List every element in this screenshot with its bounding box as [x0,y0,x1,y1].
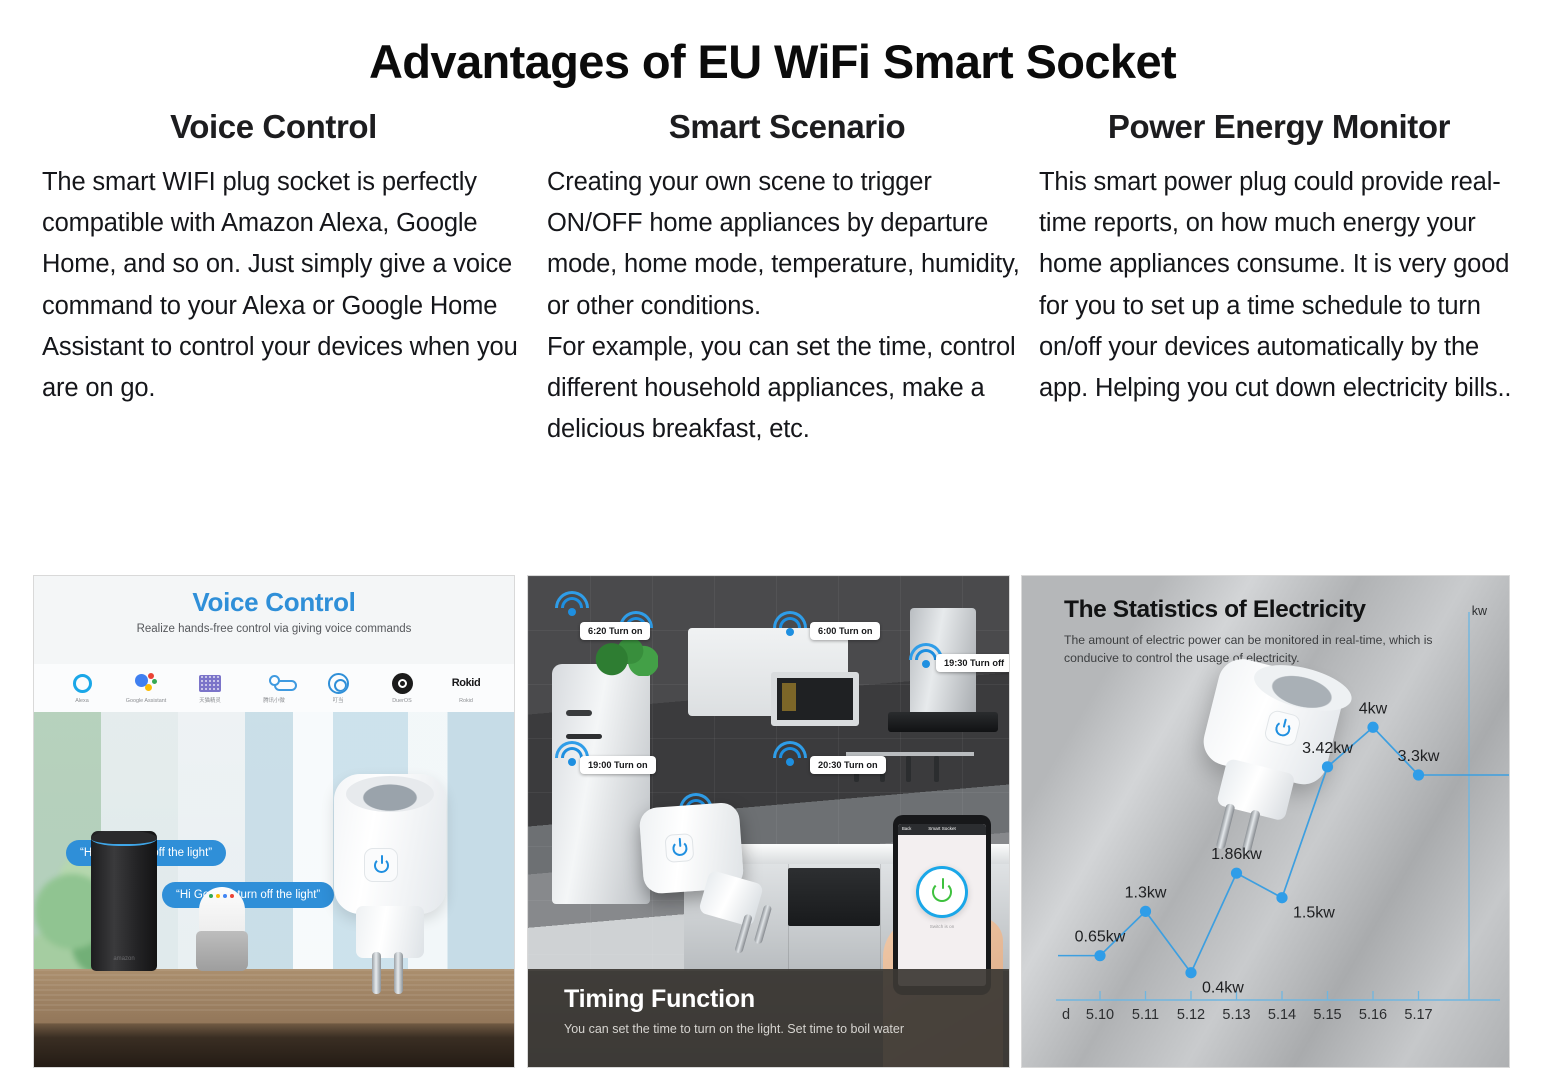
timer-tag: 20:30 Turn on [810,756,886,774]
wifi-signal-icon [552,586,592,616]
data-point-label: 3.3kw [1398,748,1440,765]
page-title: Advantages of EU WiFi Smart Socket [0,0,1545,88]
panel-title: Voice Control [34,576,514,618]
app-status-text: Switch is on [898,924,986,929]
echo-brand-label: amazon [91,956,157,962]
app-power-toggle[interactable] [916,866,968,918]
panel-header: Voice Control Realize hands-free control… [34,576,514,664]
panel-power-energy-monitor: The Statistics of Electricity The amount… [1021,575,1510,1068]
feature-column-power-energy-monitor: Power Energy Monitor This smart power pl… [1033,108,1533,451]
data-point [1322,761,1333,772]
speech-bubble-google: “Hi Google, turn off the light” [162,882,334,908]
smartphone-app: Back Smart Socket Switch is on [893,815,991,995]
potted-plant [592,634,658,676]
assistant-tmall: 天猫精灵 [188,671,232,705]
app-title: Smart Socket [928,826,956,831]
data-point-label: 1.86kw [1211,846,1262,863]
column-body: Creating your own scene to trigger ON/OF… [547,162,1027,451]
data-point [1185,967,1196,978]
panel-smart-scenario: 6:20 Turn on 6:00 Turn on 19:30 Turn off… [527,575,1010,1068]
data-point [1140,906,1151,917]
smart-plug-product [326,756,454,986]
timer-tag: 19:00 Turn on [580,756,656,774]
google-home-led-dots [209,894,234,898]
data-point [1367,722,1378,733]
assistant-label: 叮当 [316,698,360,705]
data-point-label: 3.42kw [1302,740,1353,757]
wifi-signal-icon [770,736,810,766]
power-button [664,833,694,863]
x-tick-label: 5.17 [1404,1007,1432,1023]
dueros-icon [380,671,424,695]
wifi-signal-icon [770,606,810,636]
panel-voice-control: Voice Control Realize hands-free control… [33,575,515,1068]
column-heading: Smart Scenario [547,108,1027,146]
assistant-label: Rokid [444,698,488,705]
panel-caption: Timing Function You can set the time to … [528,969,1009,1067]
assistant-dueros: DuerOS [380,671,424,705]
x-tick-label: 5.13 [1222,1007,1250,1023]
image-panels: Voice Control Realize hands-free control… [0,575,1545,1070]
smart-plug-product [639,800,780,969]
assistant-label: Google Assistant [124,698,168,705]
microwave-oven [771,672,859,726]
dingdang-icon [316,671,360,695]
data-point-label: 0.4kw [1202,980,1244,997]
assistant-label: Alexa [60,698,104,705]
app-title-bar: Back Smart Socket [898,824,986,835]
x-tick-label: 5.16 [1359,1007,1387,1023]
timer-tag: 6:00 Turn on [810,622,880,640]
data-point [1413,769,1424,780]
caption-subtitle: You can set the time to turn on the ligh… [564,1014,1009,1036]
assistant-label: 天猫精灵 [188,698,232,705]
data-point-label: 0.65kw [1075,929,1126,946]
assistant-label: 腾讯小微 [252,698,296,705]
x-tick-label: 5.15 [1313,1007,1341,1023]
tencent-xiaowei-icon [252,671,296,695]
assistant-label: DuerOS [380,698,424,705]
panel-subtitle: Realize hands-free control via giving vo… [34,618,514,635]
column-heading: Voice Control [42,108,535,146]
data-point [1231,868,1242,879]
x-tick-label: 5.12 [1177,1007,1205,1023]
data-point-label: 1.5kw [1293,905,1335,922]
timer-tag: 6:20 Turn on [580,622,650,640]
rokid-icon: Rokid [444,671,488,695]
x-axis-label: d [1062,1007,1070,1023]
column-heading: Power Energy Monitor [1039,108,1527,146]
electricity-line-chart: 5.105.115.125.135.145.155.165.17d0.65kw1… [1022,576,1510,1068]
google-home-speaker [196,887,248,971]
amazon-echo-speaker: amazon [91,831,157,971]
assistant-alexa: Alexa [60,671,104,705]
assistant-dingdang: 叮当 [316,671,360,705]
timer-tag: 19:30 Turn off [936,654,1010,672]
data-point [1094,950,1105,961]
x-tick-label: 5.14 [1268,1007,1296,1023]
app-back-button[interactable]: Back [902,826,911,831]
column-body: The smart WIFI plug socket is perfectly … [42,162,535,410]
x-tick-label: 5.11 [1132,1007,1159,1023]
data-point-label: 1.3kw [1125,884,1167,901]
power-button [364,848,398,882]
column-body: This smart power plug could provide real… [1039,162,1527,410]
assistant-logo-bar: Alexa Google Assistant 天猫精灵 腾讯小微 [34,664,514,712]
tmall-genie-icon [188,671,232,695]
caption-title: Timing Function [564,985,1009,1014]
feature-columns: Voice Control The smart WIFI plug socket… [0,88,1545,451]
assistant-rokid: Rokid Rokid [444,671,488,705]
google-assistant-icon [124,671,168,695]
assistant-tencent: 腾讯小微 [252,671,296,705]
alexa-ring-icon [60,671,104,695]
infographic-page: Advantages of EU WiFi Smart Socket Voice… [0,0,1545,1080]
dishwasher [788,868,880,926]
feature-column-voice-control: Voice Control The smart WIFI plug socket… [36,108,541,451]
x-tick-label: 5.10 [1086,1007,1114,1023]
data-point-label: 4kw [1359,700,1388,717]
data-point [1276,892,1287,903]
refrigerator [552,664,650,904]
feature-column-smart-scenario: Smart Scenario Creating your own scene t… [541,108,1033,451]
assistant-google: Google Assistant [124,671,168,705]
